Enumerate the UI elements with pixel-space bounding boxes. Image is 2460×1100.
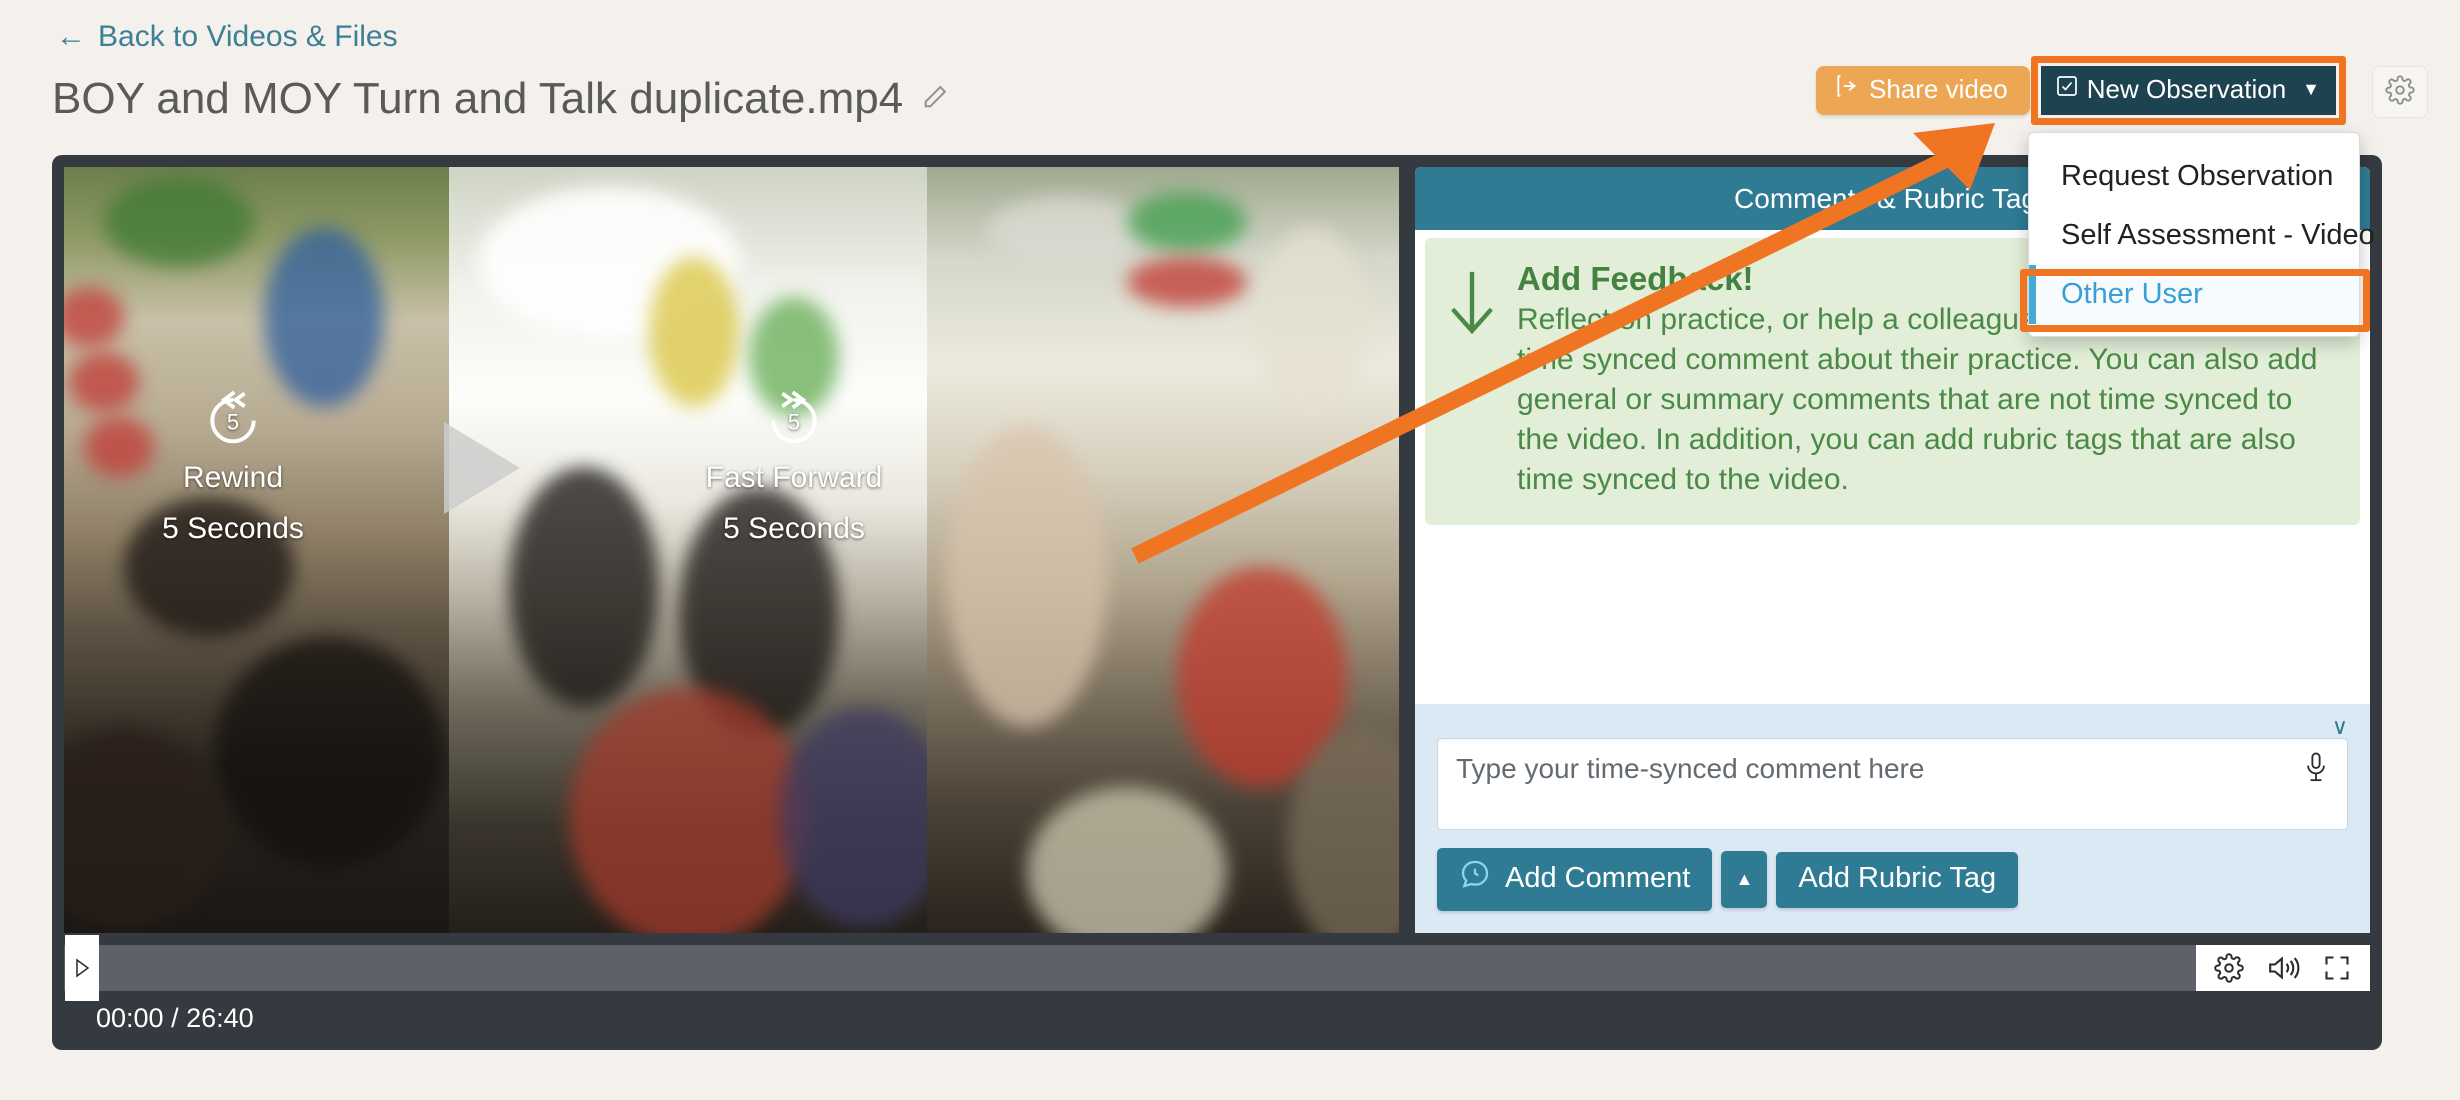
video-frame-right	[927, 167, 1399, 933]
player-control-icons	[2196, 945, 2370, 991]
rewind-5-seconds-button[interactable]: 5 Rewind 5 Seconds	[128, 387, 338, 548]
share-video-button[interactable]: Share video	[1816, 66, 2030, 115]
svg-text:5: 5	[788, 410, 800, 435]
checkbox-icon	[2055, 74, 2079, 105]
pencil-icon[interactable]	[921, 83, 949, 116]
gear-icon[interactable]	[2214, 953, 2244, 983]
rewind-5-icon: 5	[202, 423, 264, 456]
video-frame-center	[449, 167, 927, 933]
new-observation-wrap: New Observation ▼	[2041, 66, 2336, 115]
rewind-label: Rewind	[128, 459, 338, 497]
add-comment-button[interactable]: Add Comment	[1437, 848, 1712, 911]
title-row: BOY and MOY Turn and Talk duplicate.mp4	[52, 74, 949, 124]
comment-composer: ∨ Type your time-synced comment here	[1415, 704, 2370, 933]
chevron-up-icon: ▲	[1735, 869, 1753, 890]
collapse-composer-caret[interactable]: ∨	[1437, 714, 2348, 738]
fast-forward-5-seconds-button[interactable]: 5 Fast Forward 5 Seconds	[674, 387, 914, 548]
fullscreen-icon[interactable]	[2322, 954, 2352, 982]
share-icon	[1834, 73, 1860, 106]
back-arrow-icon: ←	[56, 22, 86, 52]
share-video-label: Share video	[1869, 74, 2008, 105]
header-actions: Share video New Observation ▼	[1816, 66, 2428, 118]
play-icon[interactable]	[444, 422, 520, 514]
fast-forward-label: Fast Forward	[674, 459, 914, 497]
new-observation-button[interactable]: New Observation ▼	[2041, 66, 2336, 115]
microphone-icon[interactable]	[2301, 751, 2331, 792]
menu-item-request-observation[interactable]: Request Observation	[2029, 147, 2359, 206]
add-rubric-tag-label: Add Rubric Tag	[1798, 862, 1996, 895]
chevron-down-icon: ▼	[2302, 79, 2320, 100]
volume-icon[interactable]	[2266, 954, 2300, 982]
down-arrow-icon	[1445, 260, 1499, 499]
add-comment-options-button[interactable]: ▲	[1721, 851, 1767, 908]
composer-buttons: Add Comment ▲ Add Rubric Tag	[1437, 848, 2348, 911]
svg-text:5: 5	[227, 410, 239, 435]
time-display: 00:00 / 26:40	[96, 1003, 254, 1034]
add-rubric-tag-button[interactable]: Add Rubric Tag	[1776, 852, 2018, 908]
rewind-seconds-label: 5 Seconds	[128, 510, 338, 548]
video-frame-left	[64, 167, 449, 933]
fast-forward-seconds-label: 5 Seconds	[674, 510, 914, 548]
comment-input-placeholder: Type your time-synced comment here	[1456, 753, 1924, 784]
add-comment-label: Add Comment	[1505, 862, 1690, 895]
gear-icon	[2385, 75, 2415, 110]
video-viewport[interactable]: 5 Rewind 5 Seconds 5 Fast Forward 5 Seco…	[64, 167, 1399, 933]
new-observation-dropdown: Request Observation Self Assessment - Vi…	[2028, 132, 2360, 337]
video-progress-bar[interactable]	[64, 945, 2370, 991]
page-title: BOY and MOY Turn and Talk duplicate.mp4	[52, 74, 903, 124]
menu-item-self-assessment-video[interactable]: Self Assessment - Video	[2029, 206, 2359, 265]
comment-clock-icon	[1459, 858, 1491, 898]
menu-item-other-user[interactable]: Other User	[2029, 265, 2359, 324]
settings-button[interactable]	[2372, 66, 2428, 118]
back-link-label: Back to Videos & Files	[98, 20, 398, 54]
fast-forward-5-icon: 5	[763, 423, 825, 456]
comment-input[interactable]: Type your time-synced comment here	[1437, 738, 2348, 830]
new-observation-label: New Observation	[2087, 74, 2286, 105]
back-to-videos-link[interactable]: ← Back to Videos & Files	[56, 20, 398, 54]
play-handle-icon[interactable]	[65, 935, 99, 1001]
